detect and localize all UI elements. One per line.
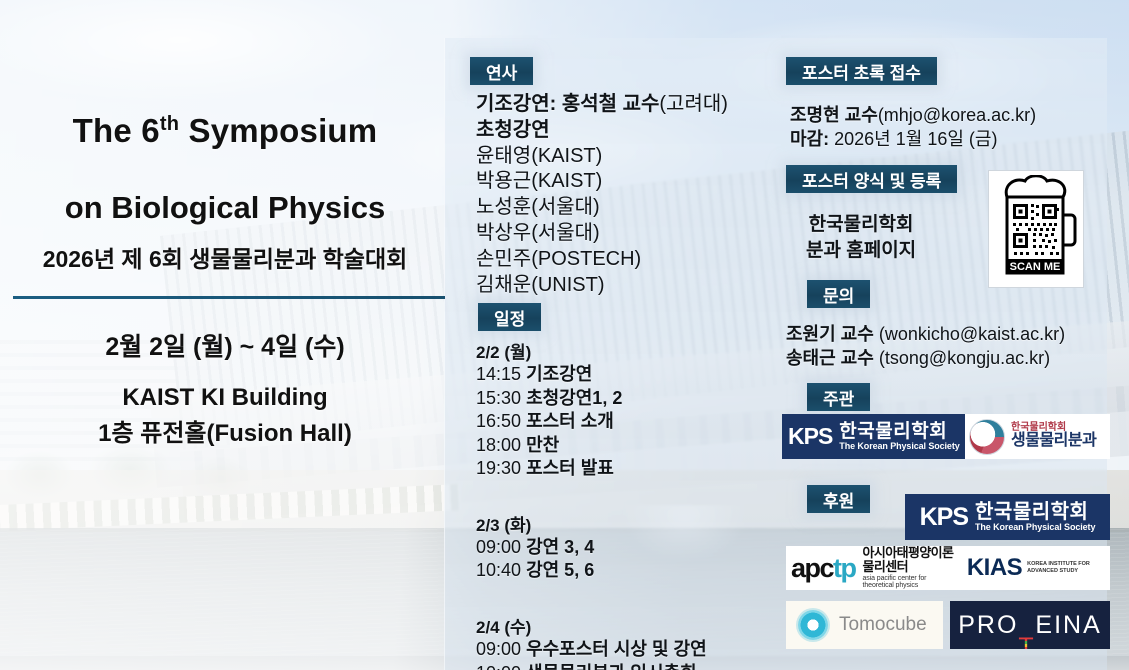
page-title: The 6th Symposium: [0, 112, 450, 150]
title-ordinal-suffix: th: [160, 113, 179, 135]
schedule-time: 16:50: [476, 411, 521, 431]
schedule-row: 16:50 포스터 소개: [476, 410, 776, 434]
abstract-submission-block: 조명현 교수(mhjo@korea.ac.kr) 마감: 2026년 1월 16…: [790, 104, 1036, 152]
logo-kps-sponsor: KPS 한국물리학회 The Korean Physical Society: [905, 494, 1110, 540]
schedule-event: 초청강연1, 2: [526, 388, 622, 408]
kps-english-name: The Korean Physical Society: [839, 442, 959, 451]
event-venue-building: KAIST KI Building: [0, 384, 450, 412]
proteina-post: EINA: [1035, 611, 1101, 639]
event-dates: 2월 2일 (월) ~ 4일 (수): [0, 327, 450, 363]
speakers-section-badge: 연사: [470, 57, 533, 85]
title-divider: [13, 296, 445, 299]
invited-label: 초청강연: [476, 118, 776, 144]
abstract-deadline-value: 2026년 1월 16일 (금): [834, 129, 997, 149]
schedule-time: 14:15: [476, 364, 521, 384]
schedule-time: 18:00: [476, 435, 521, 455]
qr-code-beer-mug-icon: SCAN ME: [995, 175, 1079, 285]
event-venue-hall: 1층 퓨전홀(Fusion Hall): [0, 413, 450, 448]
inquiry-person-email: (tsong@kongju.ac.kr): [879, 348, 1050, 368]
keynote-name: 홍석철 교수: [562, 93, 660, 115]
schedule-row: 10:00 생물물리분과 임시총회: [476, 662, 776, 670]
kps-korean-name: 한국물리학회: [839, 422, 959, 441]
logo-kps-organizer: KPS 한국물리학회 The Korean Physical Society: [782, 414, 965, 459]
schedule-event: 만찬: [526, 435, 559, 455]
apctp-english-name: asia pacific center for theoretical phys…: [863, 575, 955, 590]
schedule-event: 포스터 발표: [526, 458, 614, 478]
symposium-poster: The 6th Symposium on Biological Physics …: [0, 0, 1129, 670]
speakers-list: 기조강연: 홍석철 교수(고려대) 초청강연 윤태영(KAIST) 박용근(KA…: [476, 92, 776, 298]
invited-speaker: 김채운(UNIST): [476, 273, 776, 299]
schedule-row: 14:15 기조강연: [476, 363, 776, 387]
schedule-row: 19:30 포스터 발표: [476, 457, 776, 481]
kps-korean-name: 한국물리학회: [975, 502, 1095, 522]
schedule-time: 09:00: [476, 537, 521, 557]
schedule-row: 18:00 만찬: [476, 434, 776, 458]
logo-apctp-kias: apctp 아시아태평양이론물리센터 asia pacific center f…: [786, 546, 1110, 590]
invited-speaker: 노성훈(서울대): [476, 195, 776, 221]
inquiry-person-name: 조원기 교수: [786, 324, 874, 344]
schedule-time: 10:00: [476, 663, 521, 670]
schedule-time: 10:40: [476, 560, 521, 580]
schedule-row: 09:00 강연 3, 4: [476, 536, 776, 560]
apctp-mark-text: apctp: [791, 555, 856, 582]
registration-block: 한국물리학회 분과 홈페이지: [806, 212, 916, 263]
keynote-affiliation: (고려대): [659, 93, 728, 115]
inquiry-person-email: (wonkicho@kaist.ac.kr): [879, 324, 1065, 344]
apctp-mark-ap: apc: [791, 553, 833, 583]
logo-biological-physics-division: 한국물리학회 생물물리분과: [965, 414, 1110, 459]
abstract-contact-email: (mhjo@korea.ac.kr): [878, 105, 1036, 125]
kias-mark-text: KIAS: [967, 556, 1022, 580]
schedule-day-date: 2/2 (월): [476, 338, 776, 363]
inquiry-person: 송태근 교수 (tsong@kongju.ac.kr): [786, 346, 1065, 370]
title-line2: on Biological Physics: [0, 190, 450, 226]
tomocube-mark-icon: [798, 610, 828, 640]
logo-proteina: PROEINA: [950, 601, 1110, 649]
schedule-row: 10:40 강연 5, 6: [476, 559, 776, 583]
qr-scan-me-label: SCAN ME: [1010, 261, 1061, 273]
registration-line2: 분과 홈페이지: [806, 238, 916, 264]
kps-english-name: The Korean Physical Society: [975, 523, 1095, 532]
schedule-list: 2/2 (월) 14:15 기조강연 15:30 초청강연1, 2 16:50 …: [476, 338, 776, 670]
apctp-mark-tp: tp: [833, 553, 855, 583]
inquiry-section-badge: 문의: [807, 280, 870, 308]
schedule-section-badge: 일정: [478, 303, 541, 331]
title-korean: 2026년 제 6회 생물물리분과 학술대회: [0, 240, 450, 274]
schedule-event: 강연 3, 4: [526, 537, 594, 557]
registration-section-badge: 포스터 양식 및 등록: [786, 165, 957, 193]
abstract-contact-line: 조명현 교수(mhjo@korea.ac.kr): [790, 104, 1036, 128]
tomocube-name: Tomocube: [839, 614, 927, 636]
schedule-time: 09:00: [476, 639, 521, 659]
abstract-section-badge: 포스터 초록 접수: [786, 57, 937, 85]
invited-speaker: 윤태영(KAIST): [476, 144, 776, 170]
bio-division-emblem-icon: [969, 419, 1005, 455]
abstract-deadline-label: 마감:: [790, 129, 829, 149]
title-column: The 6th Symposium on Biological Physics …: [0, 0, 450, 670]
inquiry-block: 조원기 교수 (wonkicho@kaist.ac.kr) 송태근 교수 (ts…: [786, 322, 1065, 371]
invited-speaker: 손민주(POSTECH): [476, 247, 776, 273]
schedule-row: 09:00 우수포스터 시상 및 강연: [476, 638, 776, 662]
abstract-contact-name: 조명현 교수: [790, 105, 878, 125]
schedule-day-date: 2/4 (수): [476, 613, 776, 638]
kps-mark-text: KPS: [788, 425, 832, 448]
schedule-row: 15:30 초청강연1, 2: [476, 387, 776, 411]
inquiry-person: 조원기 교수 (wonkicho@kaist.ac.kr): [786, 322, 1065, 346]
inquiry-person-name: 송태근 교수: [786, 348, 874, 368]
schedule-time: 19:30: [476, 458, 521, 478]
sponsors-section-badge: 후원: [807, 485, 870, 513]
kias-subtitle: KOREA INSTITUTE FOR ADVANCED STUDY: [1027, 561, 1105, 575]
schedule-time: 15:30: [476, 388, 521, 408]
schedule-event: 기조강연: [526, 364, 592, 384]
schedule-event: 강연 5, 6: [526, 560, 594, 580]
organizers-section-badge: 주관: [807, 383, 870, 411]
registration-line1: 한국물리학회: [806, 212, 916, 238]
apctp-korean-name: 아시아태평양이론물리센터: [863, 546, 955, 575]
schedule-event: 우수포스터 시상 및 강연: [526, 639, 707, 659]
invited-speaker: 박상우(서울대): [476, 221, 776, 247]
title-line1-post: Symposium: [179, 112, 377, 149]
bio-division-name: 생물물리분과: [1011, 433, 1096, 450]
schedule-event: 생물물리분과 임시총회: [526, 663, 697, 670]
proteina-name: PROEINA: [958, 611, 1102, 640]
logo-tomocube: Tomocube: [786, 601, 943, 649]
keynote-line: 기조강연: 홍석철 교수(고려대): [476, 92, 776, 118]
registration-qr-code[interactable]: SCAN ME: [988, 170, 1084, 288]
title-line1-pre: The 6: [73, 112, 160, 149]
abstract-deadline-line: 마감: 2026년 1월 16일 (금): [790, 128, 1036, 152]
invited-speaker: 박용근(KAIST): [476, 169, 776, 195]
kps-mark-text: KPS: [920, 505, 968, 530]
schedule-day-date: 2/3 (화): [476, 511, 776, 536]
keynote-label: 기조강연:: [476, 93, 556, 115]
proteina-pre: PRO: [958, 611, 1018, 639]
schedule-event: 포스터 소개: [526, 411, 614, 431]
